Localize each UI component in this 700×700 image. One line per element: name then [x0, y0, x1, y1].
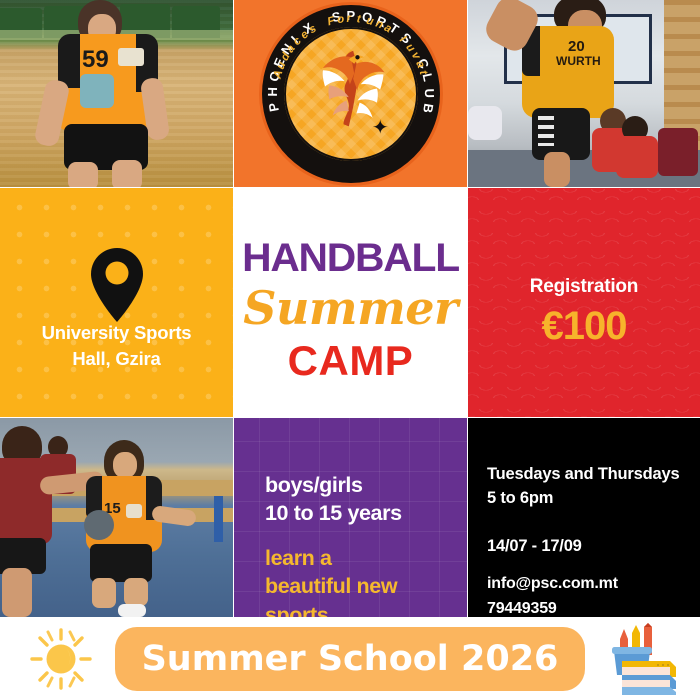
player-leg-left [68, 162, 98, 187]
summer-school-banner: Summer School 2026 [115, 627, 585, 691]
logo-ring-char: P [265, 101, 281, 112]
info-text-block: Tuesdays and Thursdays 5 to 6pm 14/07 - … [487, 462, 692, 617]
player3-leg [92, 578, 116, 608]
venue-address: University Sports Hall, Gzira [0, 320, 233, 371]
ages-highlight-1: learn a [265, 544, 455, 572]
defender-jersey [0, 458, 52, 544]
info-dates: 14/07 - 17/09 [487, 534, 692, 558]
info-spacer [487, 511, 692, 534]
defender-leg [2, 568, 32, 617]
registration-panel: Registration €100 [468, 188, 700, 417]
info-time: 5 to 6pm [487, 486, 692, 510]
jersey-crest [118, 48, 144, 66]
photo-handball-player-15: 15 [0, 418, 233, 617]
registration-label: Registration [468, 276, 700, 298]
ages-line-2: 10 to 15 years [265, 500, 455, 528]
info-panel: Tuesdays and Thursdays 5 to 6pm 14/07 - … [468, 418, 700, 617]
club-logo-panel: PHOENIX SPORTS CLUBAudaces Fortuna Iuvat [234, 0, 467, 187]
player2-shorts-stripes [538, 116, 554, 146]
player3-leg [124, 578, 148, 606]
info-email[interactable]: info@psc.com.mt [487, 572, 692, 597]
footer-bar: Summer School 2026 [0, 618, 700, 700]
bench-leg [214, 496, 223, 542]
player2-shoe [468, 106, 502, 140]
player3-face [113, 452, 137, 478]
logo-motto-char: o [336, 13, 345, 26]
title-summer: Summer [234, 284, 467, 332]
logo-motto-char: r [347, 13, 351, 25]
player2-number: 20 [568, 38, 614, 54]
photo-handball-player-59: 59 [0, 0, 233, 187]
summer-school-label: Summer School 2026 [115, 627, 585, 691]
player3-shorts [90, 544, 152, 582]
player2-leg [544, 152, 570, 187]
price-block: Registration €100 [468, 276, 700, 349]
maltese-cross-icon: ✦ [372, 115, 389, 140]
photo-handball-player-jumping: 20 WURTH [468, 0, 700, 187]
bench-player-shirt [616, 136, 658, 178]
info-spacer [487, 558, 692, 572]
handball-ball [84, 510, 114, 540]
title-camp: CAMP [234, 340, 467, 382]
logo-ring-char: B [419, 102, 435, 114]
ages-line-1: boys/girls [265, 472, 455, 500]
jersey-number: 59 [82, 46, 116, 70]
sun-icon [26, 626, 96, 692]
poster-canvas: 59 PHOENIX SPORTS CLUBAudaces Fortuna Iu… [0, 0, 700, 700]
club-logo: PHOENIX SPORTS CLUBAudaces Fortuna Iuvat [262, 5, 440, 183]
books-and-pencils-icon [600, 623, 678, 695]
venue-panel: University Sports Hall, Gzira [0, 188, 233, 417]
player3-shoe [118, 604, 146, 617]
logo-motto-char: t [356, 13, 361, 25]
ages-text-block: boys/girls 10 to 15 years learn a beauti… [265, 472, 455, 617]
title-panel: HANDBALL Summer CAMP [234, 188, 467, 417]
logo-ring-char: H [264, 86, 279, 96]
ages-panel: boys/girls 10 to 15 years learn a beauti… [234, 418, 467, 617]
title-stack: HANDBALL Summer CAMP [234, 238, 467, 382]
title-handball: HANDBALL [234, 238, 467, 278]
player3-crest [126, 504, 142, 518]
venue-line-1: University Sports [0, 320, 233, 346]
bench-bag [658, 128, 698, 176]
logo-ring-char: U [421, 88, 436, 98]
info-days: Tuesdays and Thursdays [487, 462, 692, 486]
jersey-sponsor [80, 74, 114, 108]
ages-highlight-2: beautiful new [265, 572, 455, 600]
location-pin-icon [86, 246, 148, 324]
jersey-sleeve-left [58, 34, 80, 88]
ages-highlight-3: sports [265, 601, 455, 617]
registration-amount: €100 [468, 304, 700, 349]
player2-sponsor: WURTH [556, 54, 608, 66]
player-leg-right [112, 160, 142, 187]
info-phone[interactable]: 79449359 [487, 597, 692, 617]
venue-line-2: Hall, Gzira [0, 346, 233, 372]
